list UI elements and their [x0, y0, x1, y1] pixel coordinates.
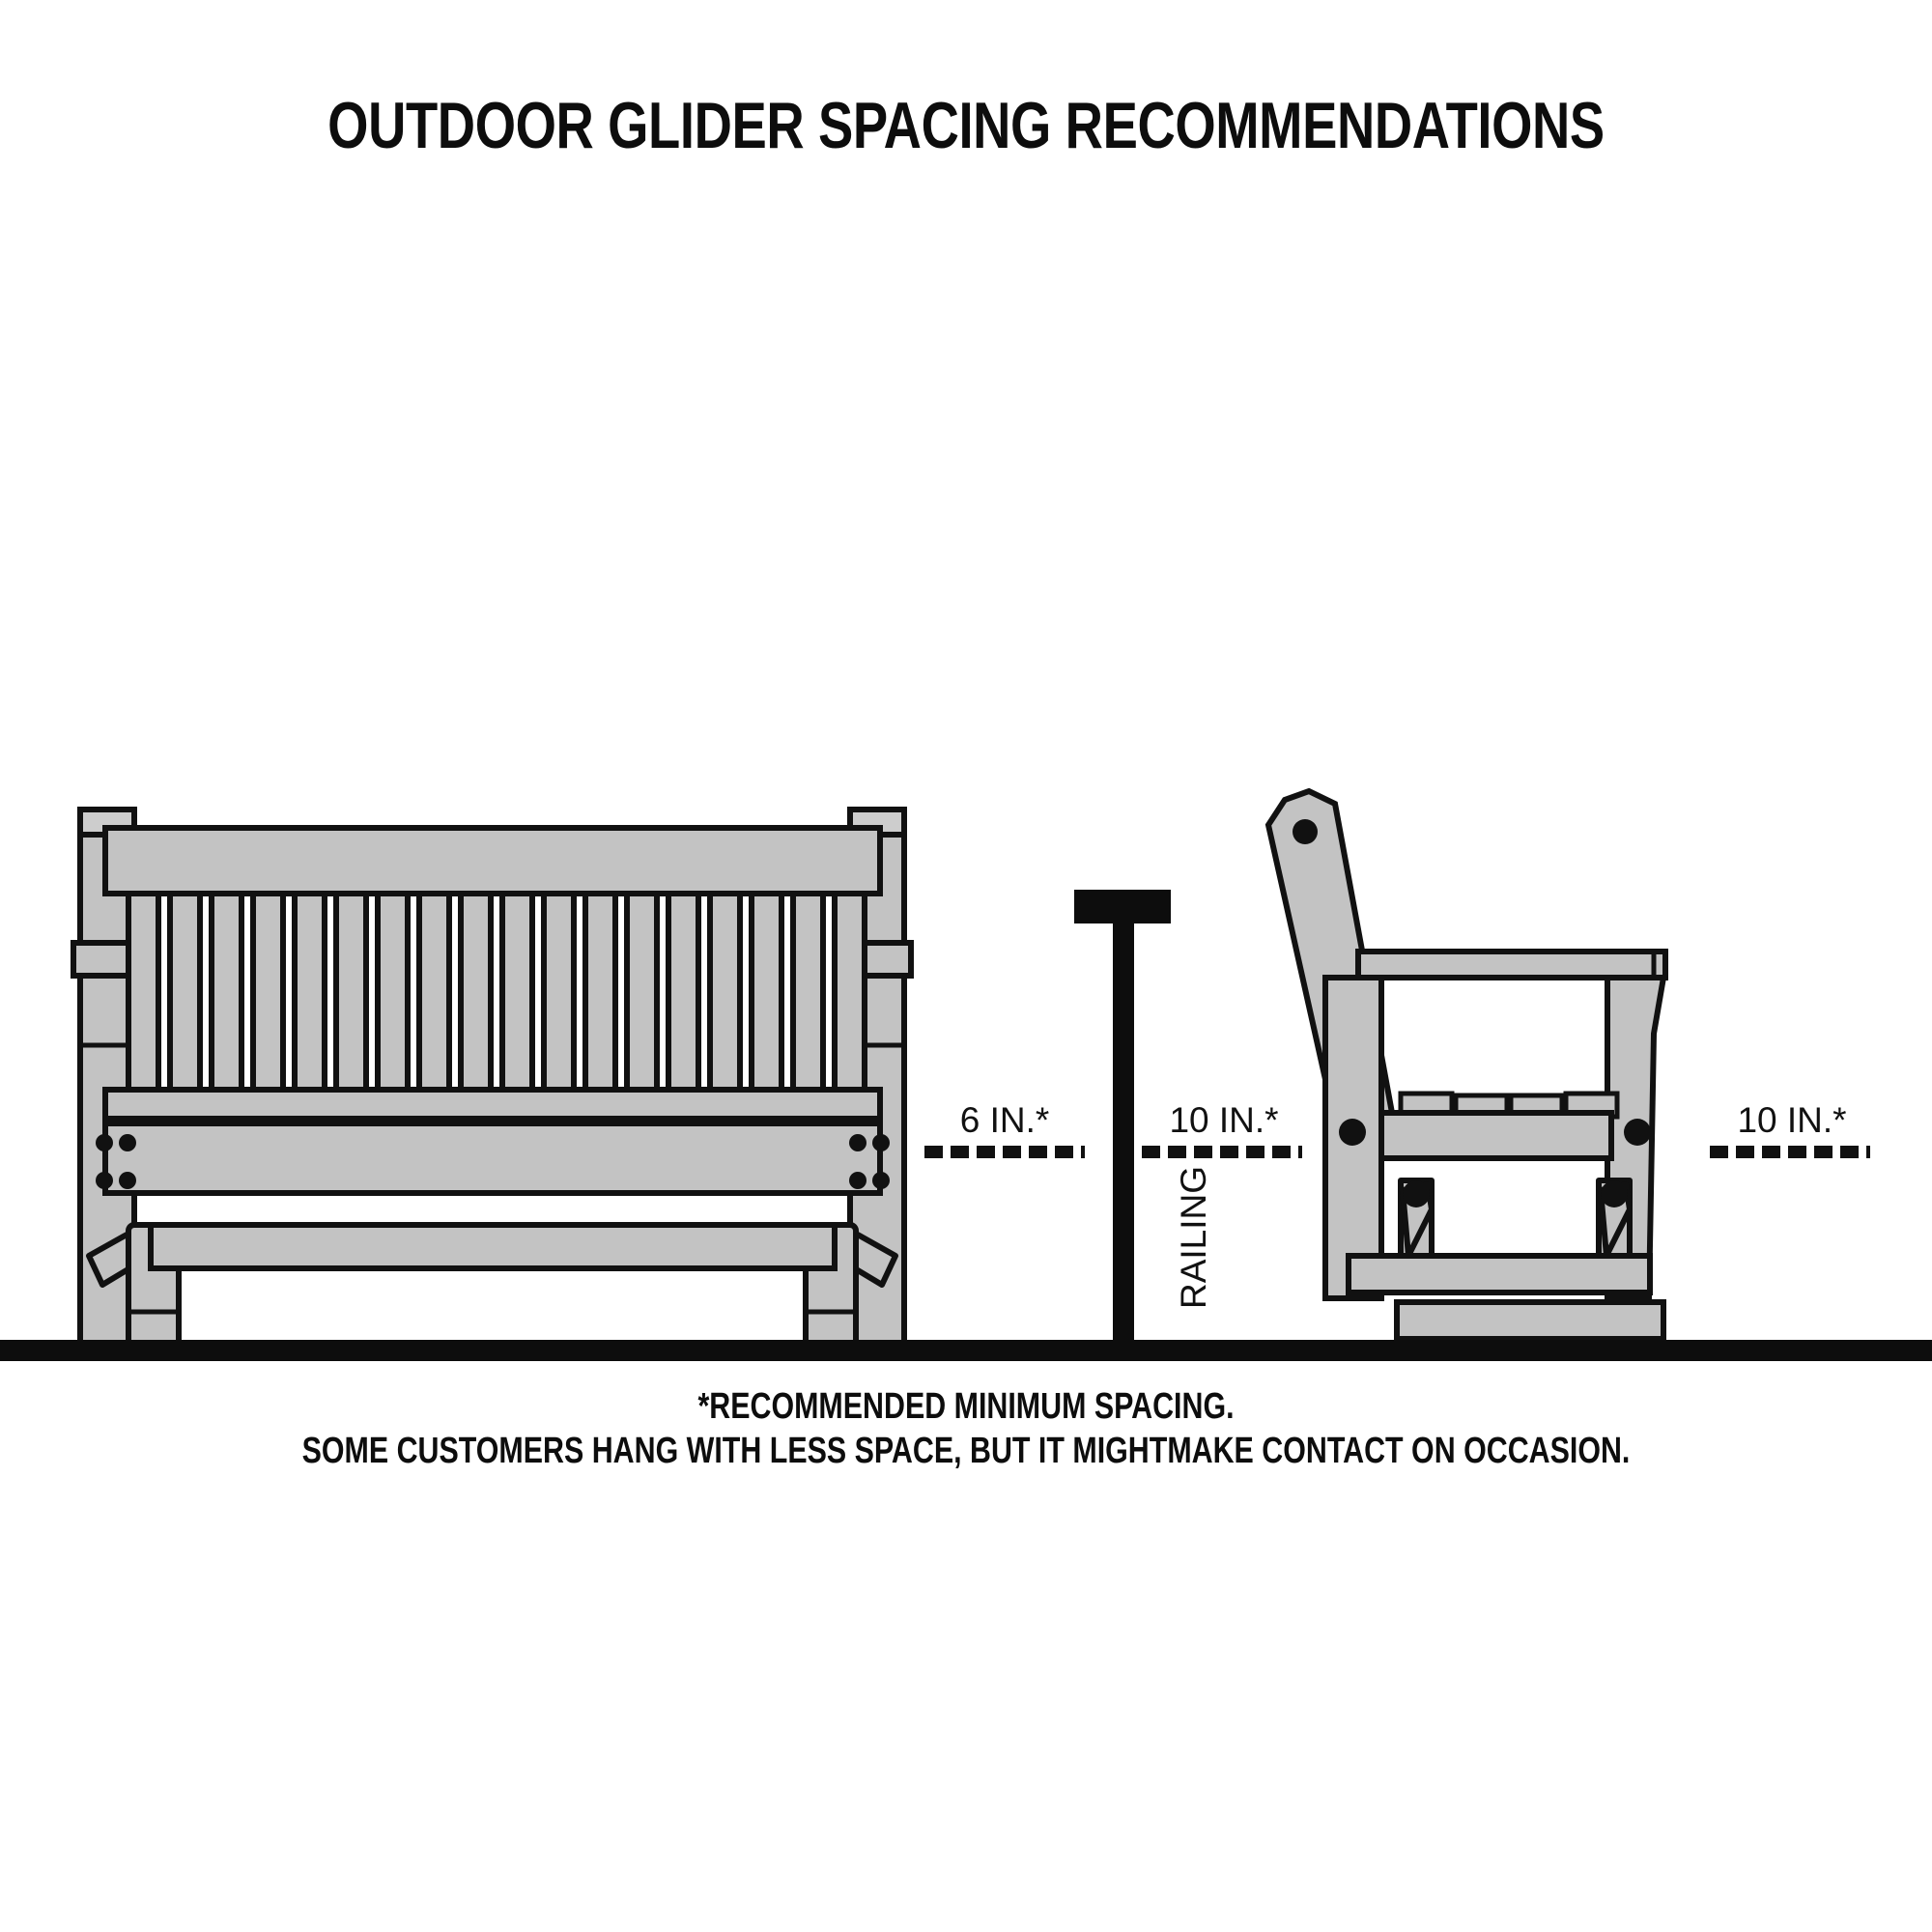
side-armrest: [1358, 952, 1665, 978]
front-seat-rail-upper: [105, 1090, 880, 1119]
dimension-label-glider-to-railing: 6 IN.*: [918, 1102, 1092, 1138]
side-backrest-bolt: [1293, 819, 1318, 844]
dimension-label-railing-to-side-glider: 10 IN.*: [1132, 1102, 1316, 1138]
caption-recommended-minimum-spacing: *RECOMMENDED MINIMUM SPACING.: [193, 1388, 1739, 1425]
dimension-line-railing-to-side-glider: [1142, 1146, 1302, 1158]
dimension-line-glider-to-railing: [924, 1146, 1085, 1158]
side-lower-rail: [1349, 1256, 1650, 1293]
front-view-glider: [73, 810, 911, 1346]
diagram-canvas: OUTDOOR GLIDER SPACING RECOMMENDATIONS .…: [0, 0, 1932, 1932]
side-pivot-bolt-front-upper: [1624, 1119, 1651, 1146]
caption-contact-disclaimer: SOME CUSTOMERS HANG WITH LESS SPACE, BUT…: [193, 1433, 1739, 1469]
ground-line: [0, 1340, 1932, 1361]
dimension-label-side-glider-to-right: 10 IN.*: [1700, 1102, 1884, 1138]
side-seat-beam: [1381, 1113, 1611, 1158]
railing-label: RAILING: [1174, 1166, 1214, 1309]
front-seat-rail-lower: [105, 1123, 880, 1193]
side-floor-runner: [1397, 1302, 1663, 1339]
glider-diagram-illustration: .wood { fill:#c3c3c3; stroke:#111111; st…: [0, 0, 1932, 1932]
side-view-glider: [1268, 791, 1665, 1339]
front-top-rail: [105, 828, 880, 894]
front-back-slats: [128, 894, 865, 1092]
side-pivot-bolt-rear-upper: [1339, 1119, 1366, 1146]
dimension-line-side-glider-to-right: [1710, 1146, 1870, 1158]
front-base-stretcher: [151, 1225, 835, 1268]
